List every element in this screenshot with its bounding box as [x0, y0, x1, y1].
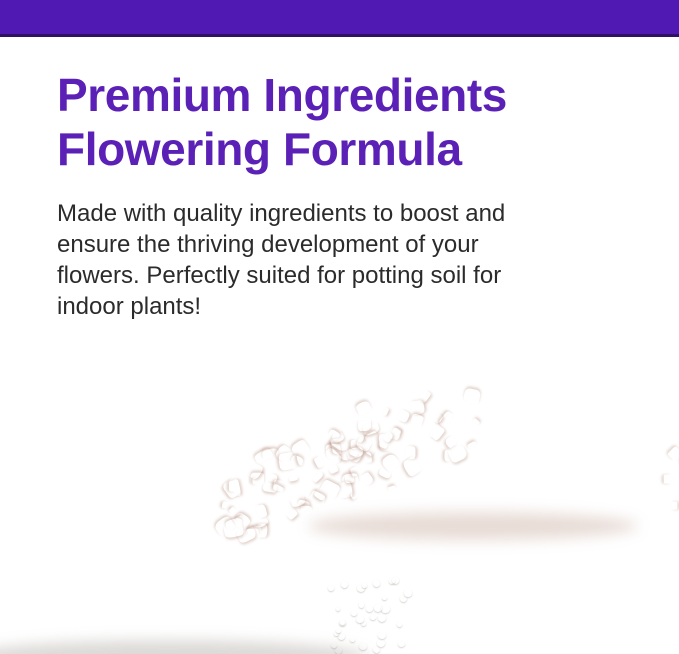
product-photo: [0, 330, 679, 654]
body-description: Made with quality ingredients to boost a…: [57, 176, 557, 322]
product-feature-panel: Premium Ingredients Flowering Formula Ma…: [0, 0, 679, 654]
top-accent-bar: [0, 0, 679, 34]
text-block: Premium Ingredients Flowering Formula Ma…: [57, 68, 597, 322]
top-accent-bar-underline: [0, 34, 679, 37]
page-title: Premium Ingredients Flowering Formula: [57, 68, 597, 176]
